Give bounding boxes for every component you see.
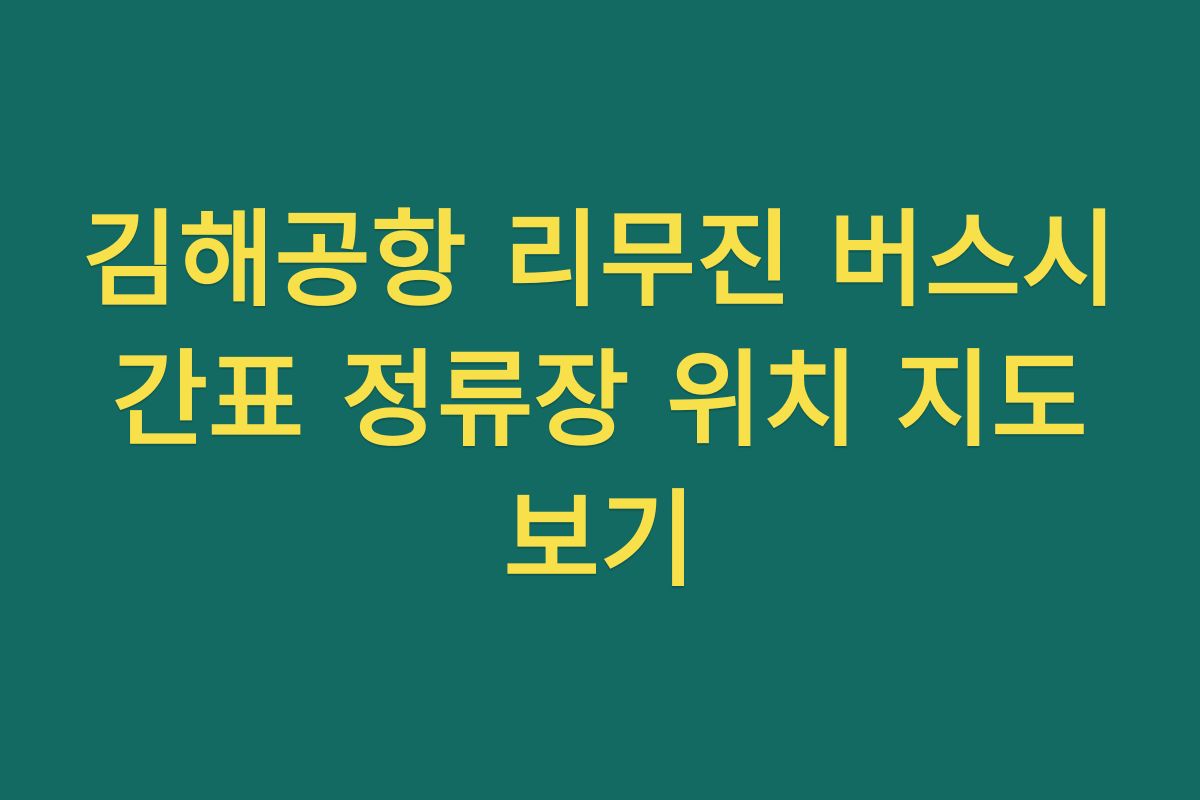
headline-line-1: 김해공항 리무진 버스시 — [70, 190, 1130, 330]
headline-line-3: 보기 — [70, 470, 1130, 610]
page-title: 김해공항 리무진 버스시 간표 정류장 위치 지도 보기 — [70, 190, 1130, 610]
title-card: 김해공항 리무진 버스시 간표 정류장 위치 지도 보기 — [0, 0, 1200, 800]
headline-line-2: 간표 정류장 위치 지도 — [70, 330, 1130, 470]
